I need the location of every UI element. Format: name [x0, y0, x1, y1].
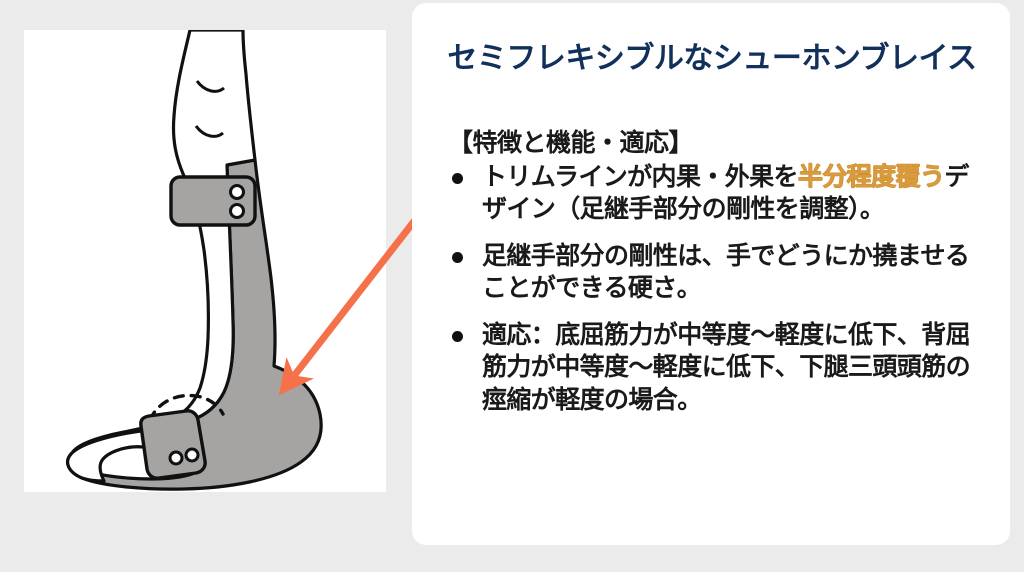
- section-heading: 【特徴と機能・適応】: [448, 129, 992, 159]
- instep-strap: [141, 411, 205, 478]
- feature-bullet-list: トリムラインが内果・外果を半分程度覆うデザイン（足継手部分の剛性を調整）。 足継…: [448, 161, 992, 417]
- bullet-dot-icon: [452, 173, 463, 184]
- info-card: セミフレキシブルなシューホンブレイス 【特徴と機能・適応】 トリムラインが内果・…: [412, 3, 1010, 545]
- calf-strap-rivet-top: [231, 186, 244, 199]
- slide-root: セミフレキシブルなシューホンブレイス 【特徴と機能・適応】 トリムラインが内果・…: [0, 0, 1024, 572]
- list-item: 適応：底屈筋力が中等度〜軽度に低下、背屈筋力が中等度〜軽度に低下、下腿三頭頭筋の…: [448, 319, 992, 417]
- bullet-dot-icon: [452, 331, 463, 342]
- illustration-panel: [24, 30, 386, 492]
- list-item: トリムラインが内果・外果を半分程度覆うデザイン（足継手部分の剛性を調整）。: [448, 161, 992, 226]
- bullet-dot-icon: [452, 252, 463, 263]
- calf-strap-rivet-bottom: [231, 205, 244, 218]
- bullet-text-before: トリムラインが内果・外果を: [482, 163, 798, 191]
- instep-strap-rivet-left: [170, 452, 182, 464]
- bullet-text-before: 足継手部分の剛性は、手でどうにか撓ませ: [482, 242, 945, 270]
- shoehorn-brace-illustration: [24, 30, 386, 492]
- bullet-highlight: 半分程度覆う: [798, 163, 944, 191]
- page-title: セミフレキシブルなシューホンブレイス: [432, 33, 992, 77]
- calf-strap: [171, 177, 255, 225]
- bullet-text-before: 適応：底屈筋力が中等度〜軽度に低下、: [482, 321, 921, 349]
- instep-strap-rivet-right: [186, 449, 198, 461]
- instep-strap-band: [141, 411, 205, 478]
- calf-strap-band: [171, 177, 255, 225]
- list-item: 足継手部分の剛性は、手でどうにか撓ませることができる硬さ。: [448, 240, 992, 305]
- card-body: 【特徴と機能・適応】 トリムラインが内果・外果を半分程度覆うデザイン（足継手部分…: [448, 129, 992, 430]
